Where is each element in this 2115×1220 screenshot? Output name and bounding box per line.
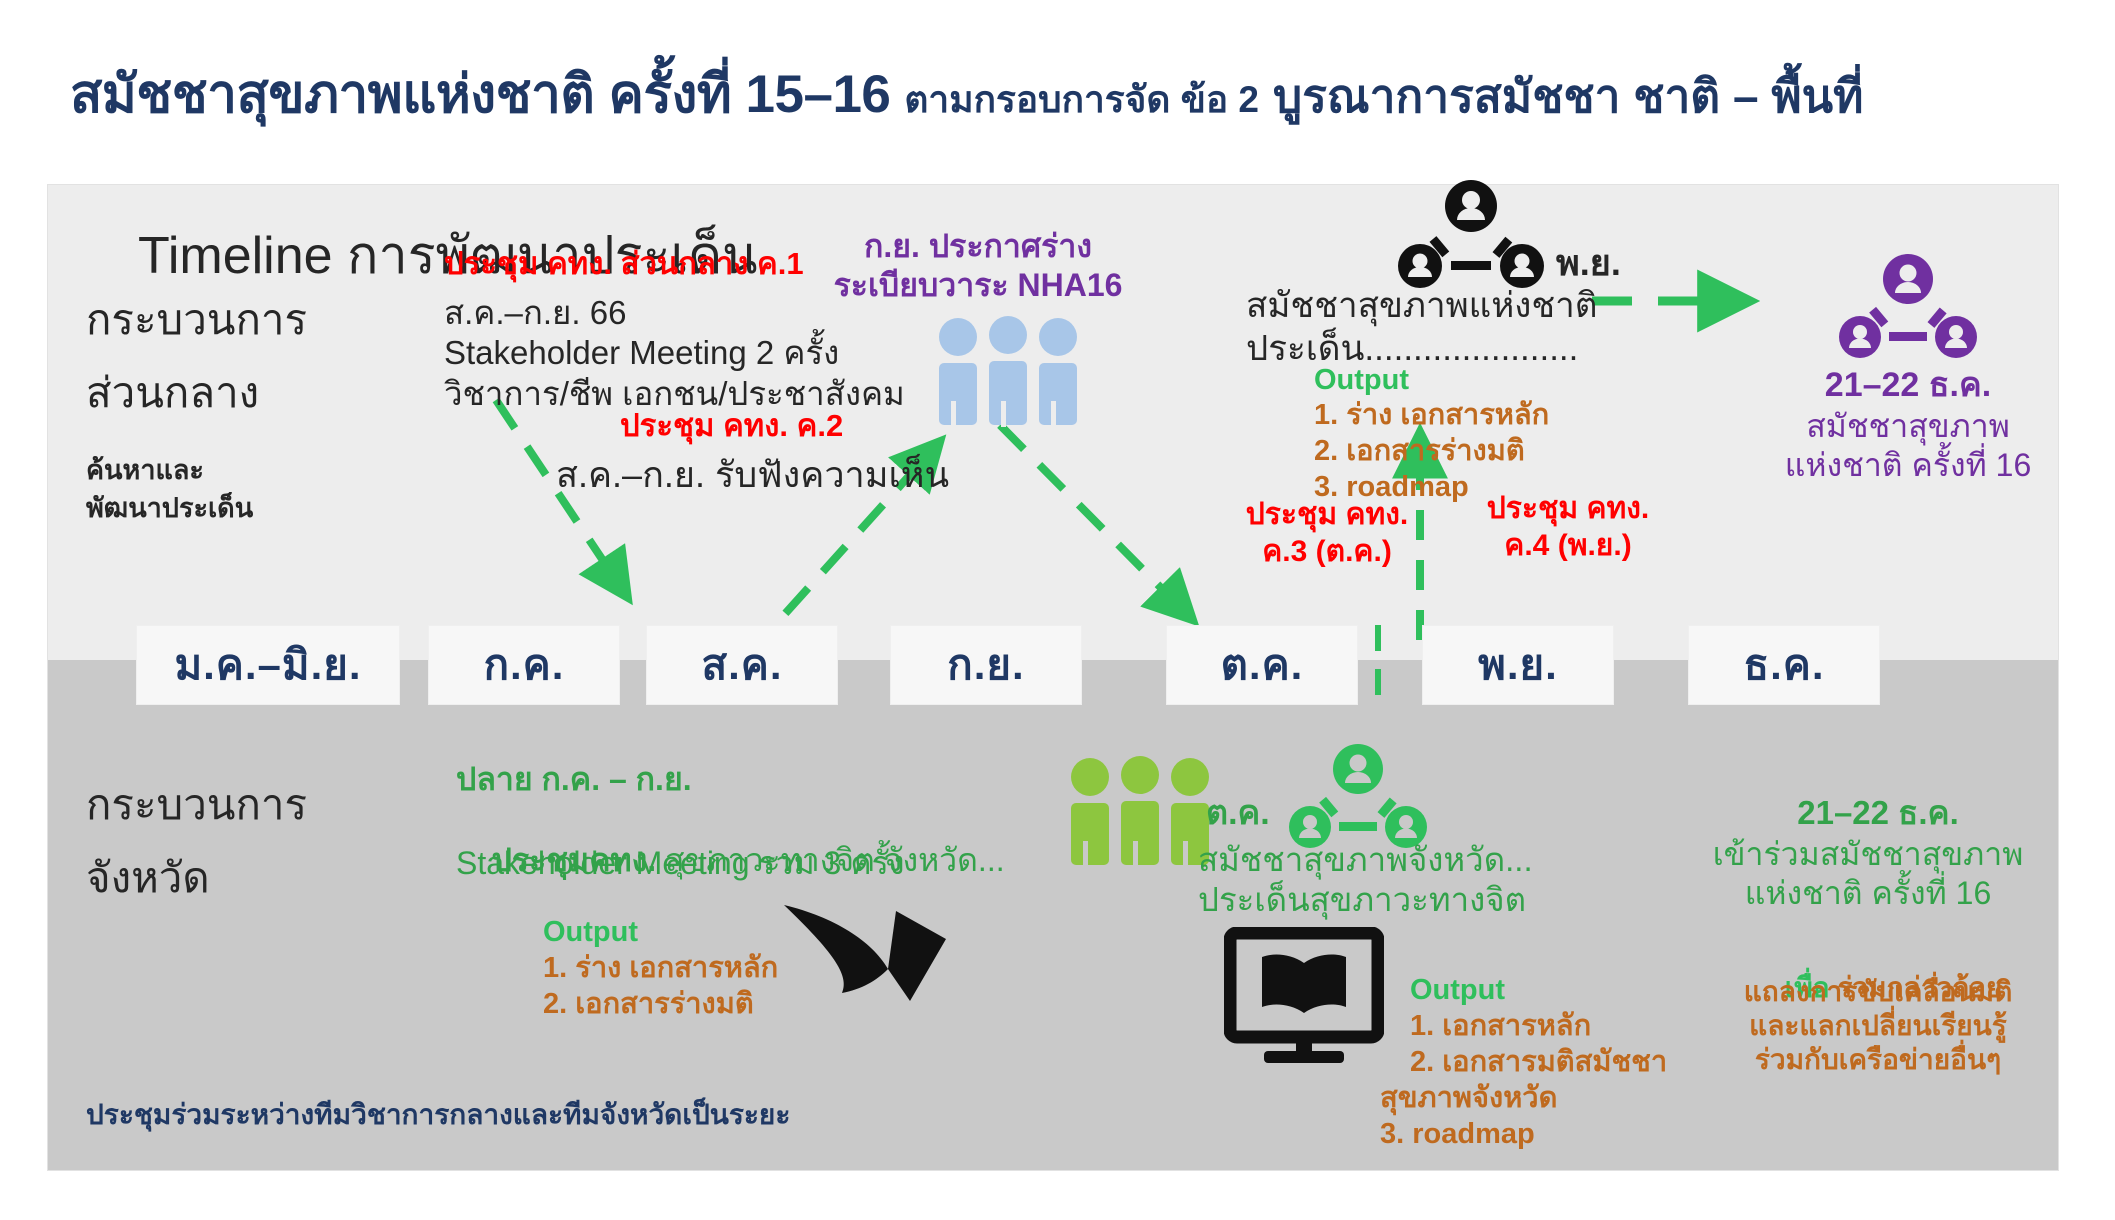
month-chip-label: ม.ค.–มิ.ย. — [174, 632, 361, 698]
list-item: 1. ร่าง เอกสารหลัก — [543, 951, 778, 986]
footer-note: ประชุมร่วมระหว่างทีมวิชาการกลางและทีมจัง… — [86, 1093, 790, 1137]
three-people-group-icon — [1060, 755, 1220, 875]
text-meeting-2-body: ส.ค.–ก.ย. รับฟังความเห็น — [556, 453, 949, 497]
label-july-output-title: Output — [543, 915, 638, 950]
list-item: 2. เอกสารร่างมติ — [543, 987, 754, 1022]
three-people-group-icon — [928, 315, 1088, 435]
month-chip[interactable]: พ.ย. — [1422, 625, 1614, 705]
timeline-board: Timeline การพัฒนาประเด็น กระบวนการ ส่วนก… — [48, 185, 2058, 1170]
month-chip-label: พ.ย. — [1478, 632, 1558, 698]
month-chip[interactable]: ม.ค.–มิ.ย. — [136, 625, 400, 705]
month-chip-row: ม.ค.–มิ.ย. ก.ค. ส.ค. ก.ย. ต.ค. พ.ย. ธ.ค. — [48, 625, 2058, 707]
network-people-icon — [1396, 180, 1546, 290]
page-title: สมัชชาสุขภาพแห่งชาติ ครั้งที่ 15–16 ตามก… — [70, 52, 2060, 124]
month-chip-label: ก.ค. — [484, 632, 565, 698]
label-dec-date-green: 21–22 ธ.ค. — [1688, 793, 2068, 833]
month-chip[interactable]: ธ.ค. — [1688, 625, 1880, 705]
label-nov-output-title: Output — [1314, 363, 1409, 398]
list-item: 2. เอกสารร่างมติ — [1314, 434, 1525, 469]
month-chip-label: ก.ย. — [947, 632, 1024, 698]
month-chip-label: ธ.ค. — [1743, 632, 1824, 698]
label-nha16-announcement: ก.ย. ประกาศร่าง ระเบียบวาระ NHA16 — [788, 227, 1168, 305]
list-item: 2. เอกสารมติสมัชชา — [1410, 1045, 1667, 1080]
text-stakeholder-meeting-block: ส.ค.–ก.ย. 66 Stakeholder Meeting 2 ครั้ง… — [444, 293, 905, 414]
page-title-main: สมัชชาสุขภาพแห่งชาติ ครั้งที่ 15–16 — [70, 52, 890, 136]
list-item: 1. ร่าง เอกสารหลัก — [1314, 398, 1549, 433]
text-nov-body: สมัชชาสุขภาพแห่งชาติ ประเด็น............… — [1246, 285, 1598, 370]
network-people-icon — [1838, 253, 1978, 361]
text-july-stakeholder-line: Stakeholder Meeting รวม 3 ครั้ง — [456, 844, 904, 883]
month-chip[interactable]: ส.ค. — [646, 625, 838, 705]
label-meeting-3-red: ประชุม คทง. ค.3 (ต.ค.) — [1212, 497, 1442, 570]
list-item: 3. roadmap — [1380, 1117, 1535, 1152]
month-chip[interactable]: ต.ค. — [1166, 625, 1358, 705]
list-item: 1. เอกสารหลัก — [1410, 1009, 1591, 1044]
month-chip[interactable]: ก.ย. — [890, 625, 1082, 705]
monitor-book-icon — [1224, 927, 1384, 1067]
label-oct-output-title: Output — [1410, 973, 1505, 1008]
pen-nib-icon — [776, 897, 966, 1017]
label-nov-month-tag: พ.ย. — [1556, 241, 1621, 285]
page-title-sub: ตามกรอบการจัด ข้อ 2 — [904, 70, 1259, 129]
month-chip[interactable]: ก.ค. — [428, 625, 620, 705]
label-meeting-4-red: ประชุม คทง. ค.4 (พ.ย.) — [1448, 491, 1688, 564]
text-dec-orange-body: แถลงการขับเคลื่อนมติ และแลกเปลี่ยนเรียนร… — [1688, 975, 2068, 1077]
text-oct-body: สมัชชาสุขภาพจังหวัด... ประเด็นสุขภาวะทาง… — [1198, 840, 1533, 921]
month-chip-label: ส.ค. — [701, 632, 782, 698]
text-dec-body-purple: สมัชชาสุขภาพ แห่งชาติ ครั้งที่ 16 — [1728, 407, 2088, 485]
label-dec-date-purple: 21–22 ธ.ค. — [1728, 365, 2088, 406]
month-chip-label: ต.ค. — [1221, 632, 1304, 698]
network-people-icon — [1288, 743, 1428, 851]
text-dec-body-green: เข้าร่วมสมัชชาสุขภาพ แห่งชาติ ครั้งที่ 1… — [1668, 835, 2068, 913]
page-title-sub2: บูรณาการสมัชชา ชาติ – พื้นที่ — [1273, 60, 1863, 133]
label-meeting-1-red: ประชุม คทง. ส่วนกลาง ค.1 — [444, 245, 804, 283]
label-oct-month-tag: ต.ค. — [1206, 793, 1270, 834]
label-july-sep-range: ปลาย ก.ค. – ก.ย. — [456, 760, 692, 799]
label-meeting-2-red: ประชุม คทง. ค.2 — [620, 407, 843, 445]
list-item: สุขภาพจังหวัด — [1380, 1081, 1557, 1116]
